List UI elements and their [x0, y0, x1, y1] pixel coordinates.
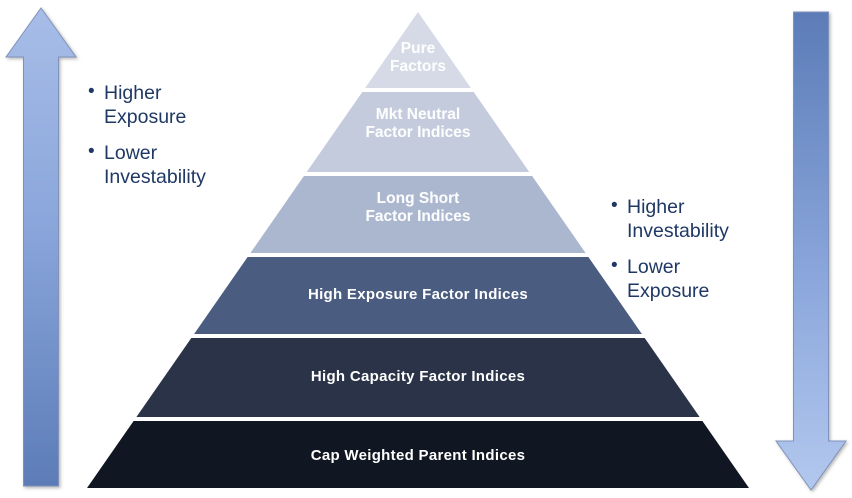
left-up-arrow: [6, 8, 76, 486]
pyramid-diagram-canvas: Pure Factors Mkt Neutral Factor Indices …: [0, 0, 852, 498]
right-axis-notes: Higher Investability Lower Exposure: [611, 196, 796, 303]
pyramid-layer-mkt-neutral: [307, 92, 530, 172]
pyramid-layer-high-capacity: [136, 338, 699, 417]
pyramid-layer-long-short: [250, 176, 585, 253]
right-note-higher-investability: Higher Investability: [611, 196, 796, 243]
left-note-higher-exposure: Higher Exposure: [88, 82, 278, 129]
right-note-lower-exposure: Lower Exposure: [611, 256, 796, 303]
pyramid-layer-cap-weighted-parent: [87, 421, 749, 488]
left-note-lower-investability: Lower Investability: [88, 142, 278, 189]
left-axis-notes: Higher Exposure Lower Investability: [88, 82, 278, 189]
pyramid-layer-pure-factors: [365, 12, 471, 88]
pyramid-layer-high-exposure: [194, 257, 642, 334]
